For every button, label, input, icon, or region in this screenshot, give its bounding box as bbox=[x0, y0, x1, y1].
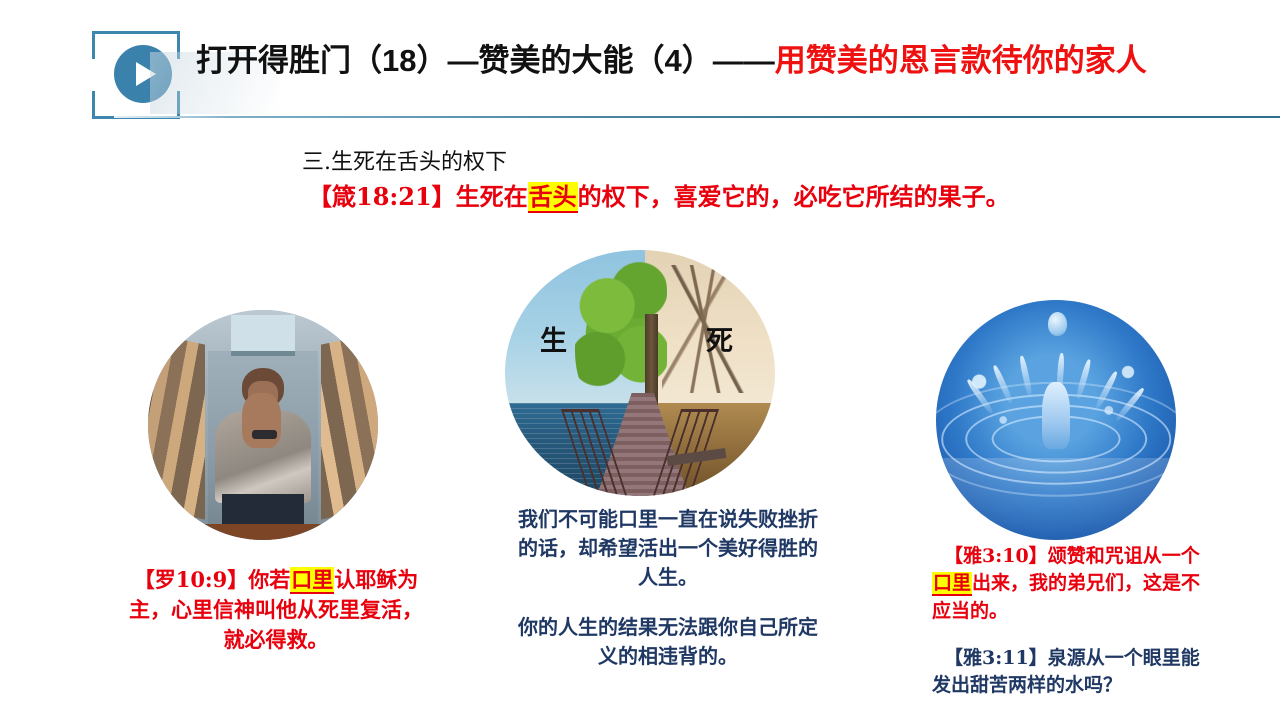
caption-left: 【罗10:9】你若口里认耶稣为主，心里信神叫他从死里复活，就必得救。 bbox=[126, 565, 426, 654]
man-clasped-hands bbox=[242, 393, 281, 448]
caption-middle-paragraph-2: 你的人生的结果无法跟你自己所定义的相违背的。 bbox=[512, 613, 824, 671]
verse-text-after: 的权下，喜爱它的，必吃它所结的果子。 bbox=[578, 182, 1010, 211]
play-icon[interactable] bbox=[114, 45, 172, 103]
caption-right-1-part2: 出来，我的弟兄们，这是不应当的。 bbox=[932, 572, 1200, 621]
label-life: 生 bbox=[540, 328, 567, 355]
caption-middle-paragraph-1: 我们不可能口里一直在说失败挫折的话，却希望活出一个美好得胜的人生。 bbox=[518, 507, 818, 589]
caption-left-highlight: 口里 bbox=[290, 567, 334, 594]
section-heading: 三.生死在舌头的权下 bbox=[302, 144, 507, 176]
wooden-rail-foreground bbox=[199, 524, 328, 540]
page-title-black-part: 打开得胜门（18）—赞美的大能（4）—— bbox=[196, 43, 775, 78]
caption-right-primary: 【雅3:10】颂赞和咒诅从一个口里出来，我的弟兄们，这是不应当的。 bbox=[932, 543, 1208, 625]
caption-right-secondary: 【雅3:11】泉源从一个眼里能发出甜苦两样的水吗？ bbox=[932, 645, 1212, 700]
bracket-corner-bottom-left bbox=[92, 91, 120, 119]
man-wristwatch bbox=[252, 430, 277, 439]
play-triangle-icon bbox=[136, 62, 156, 86]
water-splash-photo bbox=[936, 300, 1176, 540]
praying-man-photo bbox=[148, 310, 378, 540]
water-beads bbox=[936, 300, 1176, 540]
page-title: 打开得胜门（18）—赞美的大能（4）——用赞美的恩言款待你的家人 bbox=[196, 42, 1266, 79]
caption-right-1-reference: 【雅3:10】 bbox=[944, 545, 1048, 567]
verse-reference: 【箴18:21】 bbox=[308, 182, 456, 211]
life-death-tree-photo bbox=[505, 250, 775, 496]
verse-highlight: 舌头 bbox=[528, 182, 578, 213]
verse-text-before: 生死在 bbox=[456, 182, 528, 211]
caption-right-1-part1: 颂赞和咒诅从一个 bbox=[1048, 545, 1200, 567]
caption-left-reference: 【罗10:9】 bbox=[134, 567, 249, 592]
bracket-edge-top bbox=[118, 31, 154, 34]
page-title-red-part: 用赞美的恩言款待你的家人 bbox=[775, 43, 1147, 78]
caption-right-1-highlight: 口里 bbox=[932, 572, 972, 596]
caption-right-2-reference: 【雅3:11】 bbox=[944, 647, 1048, 669]
church-window bbox=[231, 315, 295, 357]
section-verse: 【箴18:21】生死在舌头的权下，喜爱它的，必吃它所结的果子。 bbox=[308, 177, 1010, 212]
caption-left-part1: 你若 bbox=[248, 567, 290, 592]
caption-middle: 我们不可能口里一直在说失败挫折的话，却希望活出一个美好得胜的人生。你的人生的结果… bbox=[512, 505, 824, 671]
church-pews-left bbox=[148, 331, 206, 519]
label-death: 死 bbox=[706, 328, 733, 355]
bracket-corner-top-left bbox=[92, 31, 120, 59]
title-underline-rule bbox=[114, 116, 1280, 118]
slide-header: 打开得胜门（18）—赞美的大能（4）——用赞美的恩言款待你的家人 bbox=[0, 0, 1280, 132]
church-pews-right bbox=[321, 331, 379, 519]
